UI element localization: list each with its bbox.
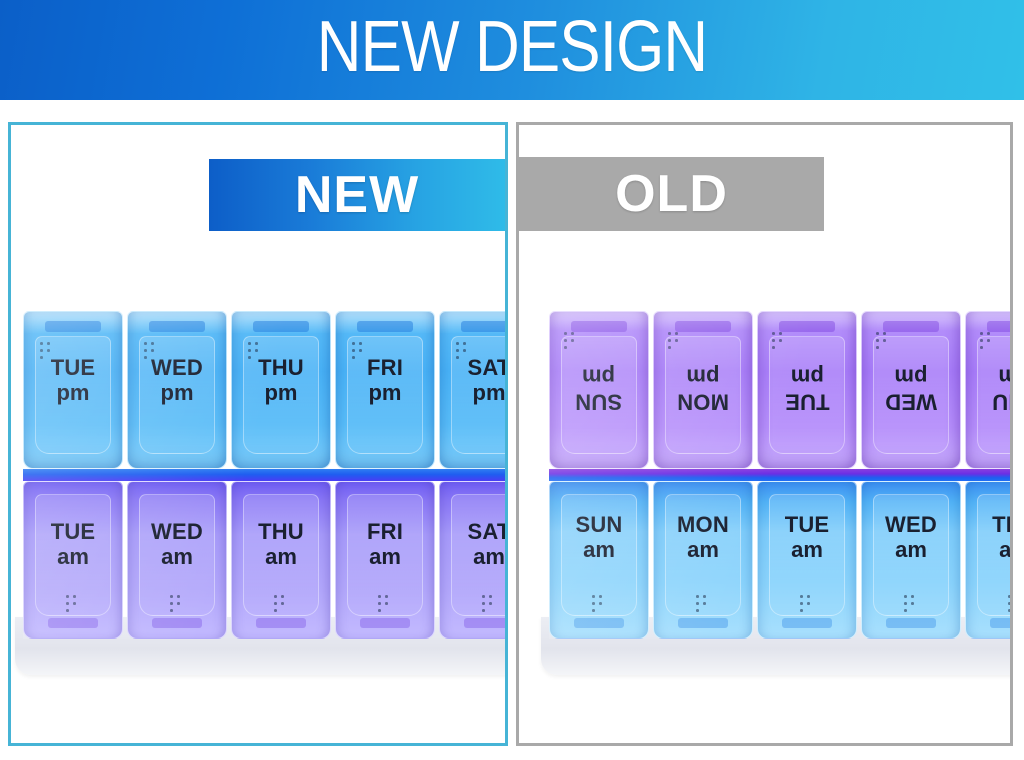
cell-day: THU: [258, 520, 304, 545]
cell-label: FRI pm: [367, 356, 403, 405]
cell-label: WED am: [151, 520, 203, 569]
cell-meridiem: pm: [885, 364, 937, 389]
cell-label: SUN am: [575, 513, 622, 562]
cell-label: TUE am: [785, 513, 830, 562]
pill-cell[interactable]: SUN am: [549, 481, 649, 639]
cell-day: MON: [677, 513, 729, 538]
lid-tab-icon: [675, 321, 731, 332]
lid-tab-icon: [782, 618, 832, 628]
cell-meridiem: am: [468, 545, 508, 570]
cell-label: MON pm: [677, 364, 729, 413]
cell-meridiem: pm: [992, 364, 1013, 389]
lid-tab-icon: [357, 321, 413, 332]
braille-dots-icon: [352, 342, 368, 359]
cell-label: TUE am: [51, 520, 96, 569]
badge-old-label: OLD: [615, 164, 728, 224]
braille-dots-icon: [904, 595, 920, 612]
braille-dots-icon: [1008, 595, 1013, 612]
organizer-row-old-am: SUN am MON am TUE am: [549, 481, 1013, 639]
cell-day: WED: [151, 520, 203, 545]
braille-dots-icon: [66, 595, 82, 612]
braille-dots-icon: [170, 595, 186, 612]
panel-old-design: OLD SUN pm MON pm: [516, 122, 1013, 746]
braille-dots-icon: [980, 332, 996, 349]
pill-cell[interactable]: MON pm: [653, 311, 753, 469]
pill-cell[interactable]: THU pm: [231, 311, 331, 469]
cell-label: SUN pm: [575, 364, 622, 413]
cell-day: SAT: [468, 356, 508, 381]
cell-day: WED: [885, 513, 937, 538]
cell-meridiem: pm: [151, 381, 203, 406]
cell-label: WED pm: [151, 356, 203, 405]
compartment-basin: [769, 336, 845, 454]
braille-dots-icon: [248, 342, 264, 359]
cell-meridiem: pm: [51, 381, 96, 406]
cell-label: SAT pm: [468, 356, 508, 405]
pill-cell[interactable]: THU am: [231, 481, 331, 639]
cell-label: WED pm: [885, 364, 937, 413]
braille-dots-icon: [564, 332, 580, 349]
lid-tab-icon: [253, 321, 309, 332]
cell-day: THU: [258, 356, 304, 381]
braille-dots-icon: [378, 595, 394, 612]
cell-label: THU am: [258, 520, 304, 569]
cell-meridiem: am: [367, 545, 403, 570]
cell-label: TUE pm: [51, 356, 96, 405]
lid-tab-icon: [883, 321, 939, 332]
lid-tab-icon: [886, 618, 936, 628]
badge-new: NEW: [209, 159, 505, 231]
cell-day: SAT: [468, 520, 508, 545]
cell-meridiem: am: [885, 538, 937, 563]
lid-tab-icon: [149, 321, 205, 332]
row-divider: [23, 469, 508, 481]
cell-day: WED: [885, 389, 937, 414]
braille-dots-icon: [456, 342, 472, 359]
pill-cell[interactable]: WED am: [861, 481, 961, 639]
pill-cell[interactable]: SAT am: [439, 481, 508, 639]
compartment-basin: [873, 336, 949, 454]
pill-organizer-old: SUN pm MON pm TUE pm: [549, 311, 1013, 639]
cell-meridiem: am: [258, 545, 304, 570]
compartment-basin: [977, 336, 1013, 454]
cell-day: TUE: [785, 389, 830, 414]
pill-cell[interactable]: FRI pm: [335, 311, 435, 469]
cell-day: SUN: [575, 389, 622, 414]
cell-meridiem: pm: [258, 381, 304, 406]
cell-meridiem: am: [51, 545, 96, 570]
braille-dots-icon: [800, 595, 816, 612]
badge-new-label: NEW: [295, 165, 419, 225]
cell-day: TUE: [51, 520, 96, 545]
lid-tab-icon: [256, 618, 306, 628]
cell-meridiem: am: [151, 545, 203, 570]
cell-label: MON am: [677, 513, 729, 562]
cell-label: SAT am: [468, 520, 508, 569]
row-divider: [549, 469, 1013, 481]
braille-dots-icon: [482, 595, 498, 612]
pill-cell[interactable]: MON am: [653, 481, 753, 639]
cell-meridiem: pm: [468, 381, 508, 406]
cell-meridiem: am: [785, 538, 830, 563]
cell-label: THU am: [992, 513, 1013, 562]
pill-cell[interactable]: SUN pm: [549, 311, 649, 469]
lid-tab-icon: [45, 321, 101, 332]
braille-dots-icon: [40, 342, 56, 359]
pill-cell[interactable]: WED pm: [127, 311, 227, 469]
lid-tab-icon: [461, 321, 508, 332]
pill-cell[interactable]: SAT pm: [439, 311, 508, 469]
compartment-basin: [451, 494, 508, 616]
cell-meridiem: pm: [677, 364, 729, 389]
cell-label: TUE pm: [785, 364, 830, 413]
braille-dots-icon: [592, 595, 608, 612]
cell-day: FRI: [367, 520, 403, 545]
pill-cell[interactable]: TUE am: [757, 481, 857, 639]
lid-tab-icon: [574, 618, 624, 628]
cell-meridiem: am: [575, 538, 622, 563]
cell-meridiem: am: [992, 538, 1013, 563]
braille-dots-icon: [668, 332, 684, 349]
lid-tab-icon: [571, 321, 627, 332]
lid-tab-icon: [464, 618, 508, 628]
organizer-row-new-am: TUE am WED am THU am: [23, 481, 508, 639]
lid-tab-icon: [152, 618, 202, 628]
cell-meridiem: pm: [575, 364, 622, 389]
lid-tab-icon: [987, 321, 1013, 332]
compartment-basin: [561, 336, 637, 454]
lid-tab-icon: [779, 321, 835, 332]
lid-tab-icon: [990, 618, 1013, 628]
cell-label: THU pm: [992, 364, 1013, 413]
cell-label: WED am: [885, 513, 937, 562]
cell-meridiem: am: [677, 538, 729, 563]
braille-dots-icon: [876, 332, 892, 349]
lid-tab-icon: [48, 618, 98, 628]
pill-cell[interactable]: TUE am: [23, 481, 123, 639]
pill-cell[interactable]: THU am: [965, 481, 1013, 639]
badge-old: OLD: [519, 157, 824, 231]
cell-meridiem: pm: [367, 381, 403, 406]
panel-new-design: NEW TUE pm WED pm: [8, 122, 508, 746]
cell-label: FRI am: [367, 520, 403, 569]
organizer-row-old-pm: SUN pm MON pm TUE pm: [549, 311, 1013, 469]
cell-meridiem: pm: [785, 364, 830, 389]
cell-label: THU pm: [258, 356, 304, 405]
pill-cell[interactable]: FRI am: [335, 481, 435, 639]
pill-cell[interactable]: WED pm: [861, 311, 961, 469]
cell-day: MON: [677, 389, 729, 414]
organizer-row-new-pm: TUE pm WED pm THU pm: [23, 311, 508, 469]
pill-cell[interactable]: THU pm: [965, 311, 1013, 469]
compartment-basin: [665, 336, 741, 454]
braille-dots-icon: [772, 332, 788, 349]
cell-day: THU: [992, 389, 1013, 414]
braille-dots-icon: [696, 595, 712, 612]
page-title: NEW DESIGN: [72, 6, 953, 88]
pill-cell[interactable]: TUE pm: [757, 311, 857, 469]
pill-cell[interactable]: WED am: [127, 481, 227, 639]
cell-day: TUE: [51, 356, 96, 381]
pill-organizer-new: TUE pm WED pm THU pm: [23, 311, 508, 639]
cell-day: WED: [151, 356, 203, 381]
braille-dots-icon: [144, 342, 160, 359]
cell-day: SUN: [575, 513, 622, 538]
header-banner: NEW DESIGN: [0, 0, 1024, 100]
cell-day: THU: [992, 513, 1013, 538]
cell-day: FRI: [367, 356, 403, 381]
cell-day: TUE: [785, 513, 830, 538]
pill-cell[interactable]: TUE pm: [23, 311, 123, 469]
braille-dots-icon: [274, 595, 290, 612]
lid-tab-icon: [678, 618, 728, 628]
lid-tab-icon: [360, 618, 410, 628]
